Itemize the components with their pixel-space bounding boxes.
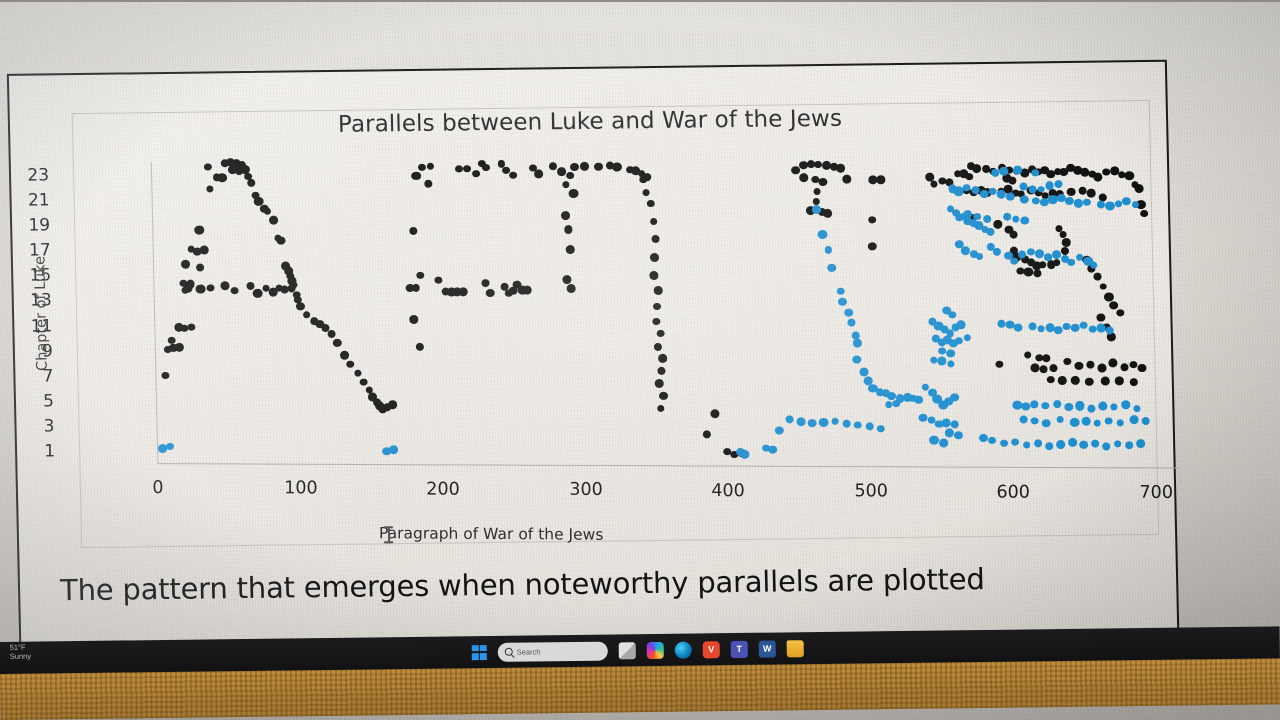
scatter-point	[996, 190, 1005, 199]
scatter-point	[976, 253, 984, 260]
scatter-point	[642, 189, 650, 196]
scatter-point	[1005, 192, 1014, 201]
scatter-point	[1087, 404, 1095, 412]
scatter-point	[887, 392, 895, 400]
scatter-point	[847, 319, 856, 327]
folder-icon[interactable]	[787, 640, 804, 657]
scatter-point	[853, 339, 862, 347]
scatter-point	[957, 320, 966, 329]
scatter-point	[1085, 378, 1093, 386]
scatter-plot-points[interactable]	[9, 62, 1180, 576]
scatter-point	[703, 430, 712, 438]
scatter-point	[1097, 364, 1106, 373]
scatter-point	[1064, 358, 1072, 365]
scatter-point	[965, 173, 973, 180]
scatter-point	[340, 351, 349, 360]
scatter-point	[580, 162, 590, 171]
scatter-point	[1008, 176, 1016, 184]
scatter-point	[1035, 249, 1045, 258]
scatter-point	[1039, 261, 1047, 268]
scatter-point	[1014, 323, 1023, 332]
scatter-point	[1012, 216, 1019, 223]
scatter-point	[865, 422, 873, 430]
scatter-point	[360, 378, 368, 385]
scatter-point	[939, 439, 948, 447]
scatter-point	[1071, 324, 1080, 332]
scatter-point	[566, 284, 576, 293]
scatter-point	[1068, 438, 1077, 447]
scatter-point	[412, 284, 420, 291]
scatter-point	[1081, 416, 1091, 425]
scatter-point	[455, 165, 462, 172]
scatter-point	[946, 349, 955, 358]
scatter-point	[220, 281, 229, 290]
scatter-point	[1030, 363, 1040, 372]
scatter-point	[346, 360, 354, 368]
scatter-point	[1130, 416, 1139, 425]
scatter-point	[844, 308, 853, 317]
scatter-point	[914, 396, 923, 404]
scatter-point	[1042, 354, 1051, 362]
scatter-point	[412, 171, 421, 180]
scatter-point	[269, 216, 278, 225]
scatter-point	[612, 162, 622, 171]
scatter-point	[819, 417, 829, 426]
scatter-point	[658, 354, 667, 362]
scatter-point	[972, 164, 981, 173]
scatter-point	[1044, 254, 1052, 261]
scatter-point	[188, 323, 196, 330]
scatter-point	[837, 288, 845, 295]
scatter-point	[1031, 169, 1039, 177]
scatter-point	[1098, 402, 1107, 411]
scatter-point	[594, 163, 602, 171]
scatter-point	[1103, 169, 1110, 176]
scatter-point	[1031, 417, 1039, 425]
scatter-point	[823, 209, 833, 218]
scatter-point	[1117, 419, 1124, 426]
scatter-point	[1097, 314, 1105, 322]
scatter-point	[1117, 309, 1125, 317]
scatter-point	[930, 180, 937, 187]
scatter-point	[409, 315, 418, 323]
scatter-point	[570, 162, 579, 170]
scatter-point	[951, 420, 959, 428]
scatter-point	[458, 287, 468, 296]
scatter-point	[1083, 198, 1091, 206]
scatter-point	[1039, 365, 1048, 373]
scatter-point	[964, 334, 971, 341]
scatter-point	[1054, 180, 1062, 188]
scatter-point	[825, 246, 833, 253]
scatter-point	[949, 311, 957, 318]
scatter-point	[1070, 418, 1080, 427]
scatter-point	[1028, 322, 1037, 330]
scatter-point	[919, 413, 928, 422]
scatter-point	[327, 330, 335, 338]
scatter-point	[991, 169, 999, 176]
scatter-point	[424, 180, 432, 188]
scatter-point	[961, 246, 971, 255]
scatter-point	[947, 360, 955, 367]
scatter-point	[859, 367, 869, 376]
scatter-point	[796, 418, 805, 427]
scatter-point	[953, 431, 962, 440]
scatter-point	[740, 450, 749, 458]
scatter-point	[1102, 442, 1110, 450]
scatter-point	[1022, 403, 1030, 411]
scatter-point	[1075, 361, 1084, 369]
scatter-point	[196, 285, 205, 294]
weather-condition: Sunny	[10, 652, 31, 661]
scatter-point	[842, 175, 852, 184]
scatter-point	[653, 303, 661, 310]
scatter-point	[1045, 323, 1054, 332]
scatter-point	[929, 436, 939, 445]
scatter-point	[534, 170, 543, 179]
scatter-point	[1054, 326, 1063, 334]
brave-icon[interactable]: V	[703, 641, 720, 658]
scatter-point	[482, 164, 490, 171]
scatter-point	[333, 338, 342, 347]
scatter-point	[1086, 360, 1094, 368]
scatter-point	[852, 355, 861, 364]
scatter-point	[1115, 200, 1122, 207]
scatter-point	[799, 173, 809, 182]
scatter-point	[1056, 440, 1066, 449]
scatter-point	[987, 228, 995, 236]
scatter-point	[818, 178, 827, 186]
scatter-point	[652, 235, 660, 243]
scatter-point	[1088, 325, 1096, 333]
scatter-point	[481, 279, 490, 287]
scatter-point	[1045, 442, 1053, 450]
scatter-point	[253, 289, 262, 298]
scatter-point	[564, 225, 573, 233]
scatter-point	[657, 405, 664, 412]
scatter-point	[1094, 420, 1101, 427]
scatter-point	[388, 401, 397, 409]
scatter-point	[195, 226, 204, 235]
scatter-point	[868, 216, 876, 224]
scatter-point	[166, 442, 174, 450]
scatter-point	[562, 181, 569, 188]
scatter-point	[1121, 401, 1130, 410]
scatter-point	[1114, 440, 1121, 447]
scatter-point	[472, 170, 480, 178]
scatter-point	[1090, 262, 1097, 269]
scatter-point	[1122, 197, 1131, 206]
copilot-icon[interactable]	[647, 641, 664, 658]
scatter-point	[418, 163, 426, 170]
scatter-point	[1080, 322, 1088, 330]
scatter-point	[199, 246, 209, 255]
word-icon[interactable]: W	[759, 640, 776, 657]
search-box[interactable]: Search	[498, 641, 608, 661]
scatter-point	[942, 418, 951, 427]
scatter-point	[1010, 257, 1018, 264]
scatter-point	[1124, 171, 1134, 180]
task-view-icon[interactable]	[619, 642, 636, 659]
scatter-point	[654, 379, 663, 388]
scatter-point	[1063, 323, 1071, 331]
scatter-point	[1020, 216, 1029, 224]
scatter-point	[1034, 439, 1043, 447]
presentation-slide-wrapper: Parallels between Luke and War of the Je…	[0, 20, 1280, 675]
scatter-point	[654, 343, 662, 351]
scatter-point	[1099, 283, 1106, 290]
scatter-point	[181, 287, 188, 294]
scatter-point	[435, 277, 443, 284]
scatter-point	[1125, 441, 1134, 449]
scatter-point	[868, 242, 877, 251]
scatter-point	[814, 161, 822, 168]
scatter-point	[877, 425, 885, 432]
scatter-point	[983, 215, 992, 223]
scatter-point	[1140, 210, 1148, 217]
scatter-point	[231, 287, 239, 295]
scatter-point	[836, 164, 845, 172]
scatter-point	[1075, 401, 1085, 410]
scatter-point	[1074, 199, 1083, 207]
scatter-point	[1024, 352, 1032, 359]
scatter-point	[1042, 402, 1050, 410]
scatter-point	[842, 420, 850, 428]
scatter-point	[1065, 196, 1074, 205]
scatter-point	[1061, 247, 1069, 255]
scatter-point	[1047, 376, 1055, 383]
scatter-point	[657, 367, 666, 375]
scatter-point	[659, 392, 668, 400]
scatter-point	[204, 164, 212, 171]
scatter-point	[988, 437, 996, 444]
scatter-point	[980, 190, 989, 198]
scatter-point	[854, 421, 862, 429]
scatter-point	[808, 419, 817, 427]
scatter-point	[945, 429, 954, 437]
scatter-point	[1129, 378, 1137, 386]
scatter-point	[828, 263, 836, 271]
scatter-point	[416, 343, 424, 351]
scatter-point	[549, 163, 558, 171]
scatter-point	[1136, 439, 1145, 448]
scatter-point	[218, 173, 228, 182]
scatter-point	[1110, 404, 1117, 411]
scatter-point	[972, 186, 980, 193]
monitor-bezel-top	[0, 0, 1280, 2]
scatter-point	[654, 286, 663, 295]
scatter-point	[995, 360, 1003, 367]
scatter-point	[1037, 325, 1045, 332]
scatter-point	[1064, 403, 1073, 412]
scatter-point	[168, 337, 176, 344]
scatter-point	[1000, 439, 1008, 447]
scatter-point	[1053, 259, 1061, 266]
scatter-point	[710, 409, 720, 418]
weather-widget[interactable]: 51°F Sunny	[10, 644, 31, 662]
scatter-point	[1045, 181, 1054, 189]
scatter-point	[409, 227, 418, 235]
scatter-point	[246, 282, 255, 290]
scatter-point	[561, 211, 570, 220]
scatter-point	[652, 318, 660, 325]
scatter-point	[785, 415, 794, 423]
scatter-point	[1142, 417, 1151, 425]
scatter-point	[1032, 197, 1040, 204]
scatter-point	[522, 285, 532, 294]
scatter-point	[938, 357, 947, 365]
scatter-point	[206, 284, 214, 292]
scatter-point	[181, 260, 190, 269]
scatter-point	[1009, 231, 1017, 239]
scatter-point	[650, 218, 657, 225]
scatter-point	[1067, 188, 1076, 196]
scatter-point	[1041, 419, 1050, 428]
scatter-point	[989, 188, 997, 195]
scatter-point	[389, 445, 399, 454]
scatter-point	[1049, 364, 1058, 372]
scatter-point	[566, 172, 574, 180]
scatter-point	[264, 208, 272, 215]
windows-logo-icon	[472, 645, 479, 652]
scatter-point	[486, 289, 495, 298]
text-cursor-ibeam	[384, 526, 393, 543]
scatter-point	[650, 253, 660, 262]
scatter-point	[509, 172, 517, 179]
scatter-point	[1109, 359, 1118, 368]
scatter-point	[1133, 405, 1141, 412]
scatter-point	[1003, 213, 1012, 221]
scatter-point	[1028, 185, 1036, 193]
scatter-point	[196, 264, 204, 272]
scatter-point	[1070, 376, 1080, 385]
scatter-point	[818, 230, 828, 239]
scatter-point	[1012, 401, 1022, 410]
scatter-point	[649, 271, 659, 280]
scatter-point	[838, 297, 847, 305]
scatter-point	[1135, 184, 1144, 193]
scatter-point	[1093, 273, 1101, 281]
scatter-point	[1062, 238, 1071, 247]
scatter-point	[997, 320, 1005, 327]
scatter-point	[938, 347, 946, 355]
scatter-point	[979, 434, 988, 442]
scatter-point	[993, 248, 1001, 256]
scatter-point	[1020, 195, 1029, 203]
edge-icon[interactable]	[675, 641, 692, 658]
scatter-point	[953, 187, 963, 196]
scatter-point	[1121, 363, 1129, 371]
scatter-point	[162, 372, 170, 379]
scatter-point	[1091, 440, 1100, 448]
scatter-point	[812, 205, 821, 214]
scatter-point	[206, 185, 214, 192]
scatter-point	[276, 236, 285, 244]
scatter-point	[1011, 438, 1018, 445]
scatter-point	[463, 165, 471, 173]
scatter-point	[1019, 415, 1027, 423]
scatter-point	[1030, 401, 1038, 408]
scatter-point	[569, 189, 579, 198]
scatter-point	[955, 337, 963, 344]
scatter-point	[768, 445, 778, 454]
scatter-point	[1024, 268, 1034, 277]
scatter-point	[813, 188, 821, 195]
scatter-point	[930, 356, 938, 363]
scatter-point	[1023, 441, 1031, 448]
scatter-point	[1138, 364, 1147, 372]
scatter-point	[1058, 376, 1067, 385]
scatter-point	[303, 311, 311, 318]
scatter-point	[950, 393, 959, 401]
scatter-point	[427, 162, 434, 169]
scatter-point	[1027, 248, 1035, 256]
start-button[interactable]	[472, 645, 487, 660]
scatter-point	[1097, 324, 1106, 332]
scatter-point	[566, 245, 576, 254]
teams-icon[interactable]: T	[731, 640, 748, 657]
scatter-point	[639, 176, 647, 184]
scatter-point	[174, 342, 184, 351]
scatter-point	[1109, 301, 1119, 310]
scatter-point	[1115, 377, 1124, 385]
scatter-point	[1086, 189, 1095, 198]
search-icon	[505, 648, 513, 656]
scatter-point	[1129, 361, 1137, 368]
scatter-point	[831, 417, 839, 424]
scatter-point	[647, 200, 655, 208]
scatter-point	[296, 302, 305, 311]
scatter-point	[657, 330, 665, 337]
scatter-point	[1056, 416, 1064, 423]
scatter-point	[1067, 259, 1075, 267]
scatter-point	[416, 271, 424, 279]
presentation-slide[interactable]: Parallels between Luke and War of the Je…	[7, 60, 1180, 659]
scatter-point	[1033, 270, 1042, 278]
scatter-point	[562, 275, 571, 284]
search-placeholder: Search	[517, 647, 541, 656]
scatter-point	[1105, 417, 1113, 425]
scatter-point	[877, 175, 886, 183]
scatter-point	[1052, 250, 1061, 259]
scatter-point	[1079, 441, 1087, 449]
scatter-point	[1100, 376, 1109, 385]
scatter-point	[993, 220, 1002, 229]
scatter-point	[1104, 292, 1114, 301]
scatter-point	[247, 179, 255, 187]
scatter-point	[1093, 172, 1103, 181]
scatter-point	[1053, 400, 1062, 408]
scatter-point	[1105, 201, 1115, 210]
scatter-point	[557, 167, 566, 176]
scatter-point	[775, 426, 784, 435]
monitor-photo: Parallels between Luke and War of the Je…	[0, 0, 1280, 720]
scatter-point	[1078, 187, 1086, 195]
scatter-point	[354, 369, 362, 376]
